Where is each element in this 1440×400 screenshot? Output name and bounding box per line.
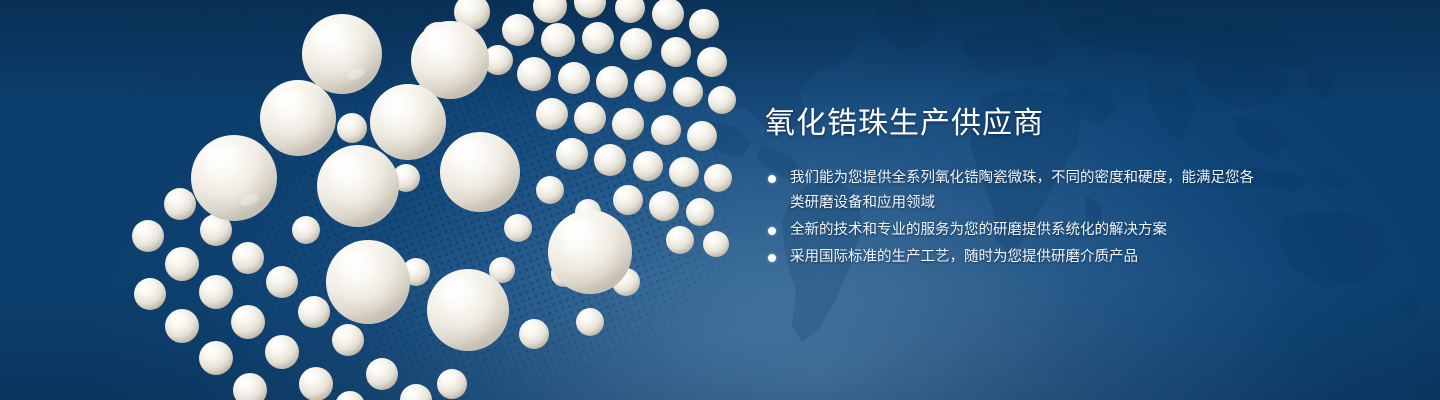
zirconia-beads-photo bbox=[120, 0, 740, 400]
bullet-dot-icon bbox=[768, 227, 776, 235]
list-item: 我们能为您提供全系列氧化锆陶瓷微珠，不同的密度和硬度，能满足您各类研磨设备和应用… bbox=[765, 166, 1265, 216]
list-item-label: 我们能为您提供全系列氧化锆陶瓷微珠，不同的密度和硬度，能满足您各类研磨设备和应用… bbox=[790, 170, 1254, 211]
hero-banner: 氧化锆珠生产供应商 我们能为您提供全系列氧化锆陶瓷微珠，不同的密度和硬度，能满足… bbox=[0, 0, 1440, 400]
bullet-dot-icon bbox=[768, 254, 776, 262]
bullet-dot-icon bbox=[768, 175, 776, 183]
list-item-label: 采用国际标准的生产工艺，随时为您提供研磨介质产品 bbox=[790, 249, 1138, 265]
feature-list: 我们能为您提供全系列氧化锆陶瓷微珠，不同的密度和硬度，能满足您各类研磨设备和应用… bbox=[765, 166, 1265, 270]
list-item: 采用国际标准的生产工艺，随时为您提供研磨介质产品 bbox=[765, 245, 1265, 270]
list-item-label: 全新的技术和专业的服务为您的研磨提供系统化的解决方案 bbox=[790, 222, 1167, 238]
page-title: 氧化锆珠生产供应商 bbox=[765, 104, 1265, 144]
banner-copy: 氧化锆珠生产供应商 我们能为您提供全系列氧化锆陶瓷微珠，不同的密度和硬度，能满足… bbox=[765, 104, 1265, 272]
list-item: 全新的技术和专业的服务为您的研磨提供系统化的解决方案 bbox=[765, 218, 1265, 243]
